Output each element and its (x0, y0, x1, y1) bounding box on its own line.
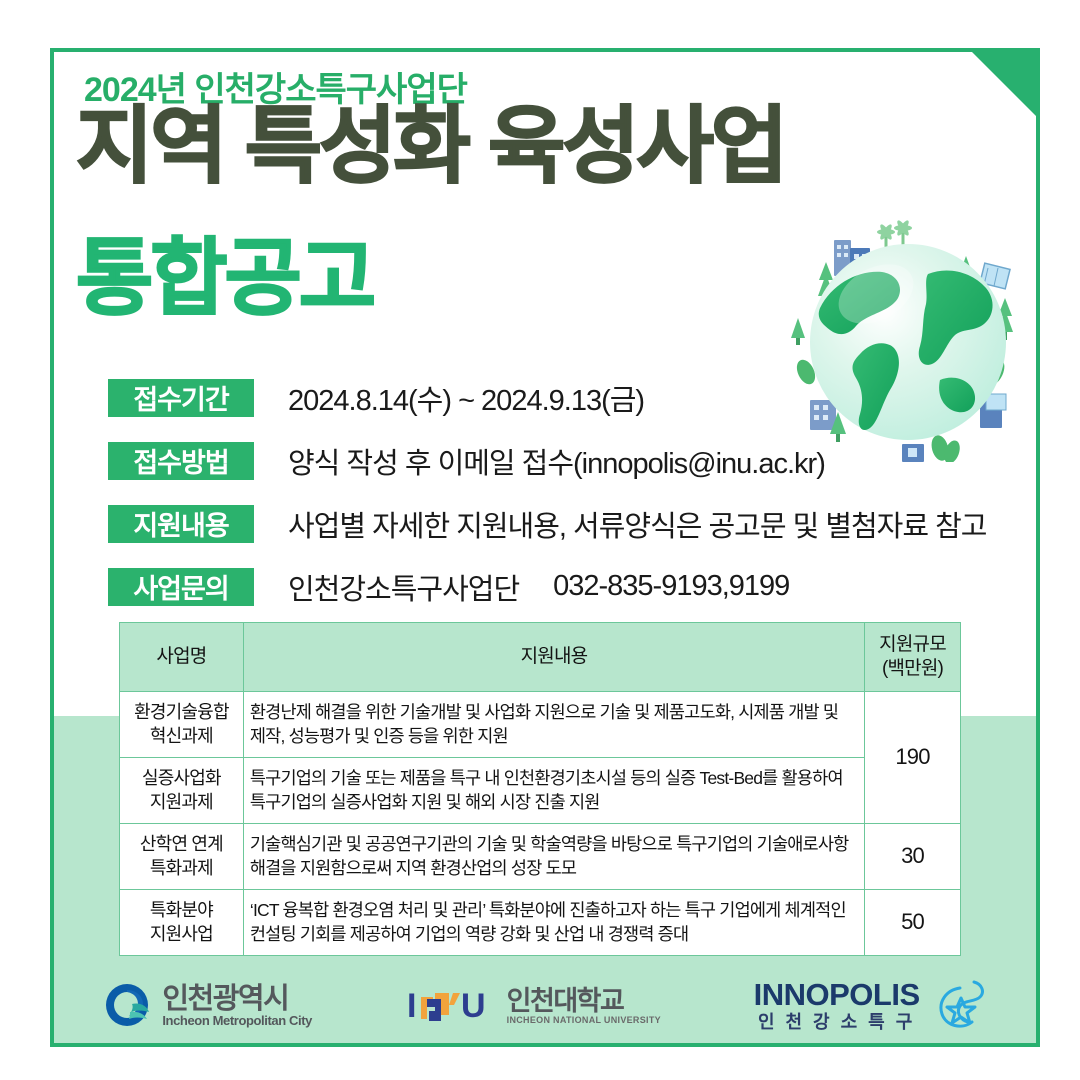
th-scale-line1: 지원규모 (879, 634, 946, 655)
svg-text:U: U (461, 987, 486, 1025)
program-name-line2: 지원사업 (150, 924, 213, 944)
incheon-city-emblem-icon (102, 980, 152, 1035)
corner-triangle-decoration (970, 50, 1038, 118)
cell-support-scale: 190 (865, 691, 961, 823)
logo-incheon-national-university: I U 인천대학교 INCHEON NATIONAL UNIVERSITY (405, 981, 661, 1034)
cell-support-desc: 환경난제 해결을 위한 기술개발 및 사업화 지원으로 기술 및 제품고도화, … (243, 691, 864, 757)
value-application-period: 2024.8.14(수) ~ 2024.9.13(금) (288, 377, 644, 419)
program-name-line1: 실증사업화 (142, 768, 221, 788)
cell-support-scale: 50 (865, 889, 961, 955)
info-rows: 접수기간 2024.8.14(수) ~ 2024.9.13(금) 접수방법 양식… (108, 366, 1008, 618)
badge-contact: 사업문의 (108, 568, 254, 606)
value-support-content: 사업별 자세한 지원내용, 서류양식은 공고문 및 별첨자료 참고 (288, 503, 986, 545)
cell-program-name: 환경기술융합 혁신과제 (120, 691, 244, 757)
program-name-line2: 혁신과제 (150, 726, 213, 746)
svg-text:I: I (407, 987, 416, 1025)
inu-wordmark: 인천대학교 INCHEON NATIONAL UNIVERSITY (507, 988, 661, 1026)
logo-incheon-metropolitan-city: 인천광역시 Incheon Metropolitan City (102, 980, 312, 1035)
table-row: 환경기술융합 혁신과제 환경난제 해결을 위한 기술개발 및 사업화 지원으로 … (120, 691, 961, 757)
cell-program-name: 산학연 연계 특화과제 (120, 823, 244, 889)
program-name-line1: 환경기술융합 (134, 702, 229, 722)
program-name-line2: 지원과제 (150, 792, 213, 812)
program-name-line2: 특화과제 (150, 858, 213, 878)
program-table: 사업명 지원내용 지원규모 (백만원) 환경기술융합 혁신과제 환경난제 해결을… (119, 622, 961, 956)
table-header-row: 사업명 지원내용 지원규모 (백만원) (120, 623, 961, 692)
badge-application-period: 접수기간 (108, 379, 254, 417)
cell-program-name: 실증사업화 지원과제 (120, 757, 244, 823)
innopolis-wordmark: INNOPOLIS 인 천 강 소 특 구 (754, 979, 920, 1035)
incheon-city-name-ko: 인천광역시 (162, 985, 312, 1014)
info-row-method: 접수방법 양식 작성 후 이메일 접수(innopolis@inu.ac.kr) (108, 429, 1008, 492)
poster-root: 2024년 인천강소특구사업단 지역 특성화 육성사업 통합공고 (0, 0, 1080, 1080)
inu-name-ko: 인천대학교 (507, 988, 661, 1015)
program-name-line1: 특화분야 (150, 900, 213, 920)
th-program-name: 사업명 (120, 623, 244, 692)
table-row: 산학연 연계 특화과제 기술핵심기관 및 공공연구기관의 기술 및 학술역량을 … (120, 823, 961, 889)
table-row: 실증사업화 지원과제 특구기업의 기술 또는 제품을 특구 내 인천환경기초시설… (120, 757, 961, 823)
logo-innopolis: INNOPOLIS 인 천 강 소 특 구 (754, 976, 988, 1039)
cell-support-desc: ‘ICT 융복합 환경오염 처리 및 관리’ 특화분야에 진출하고자 하는 특구… (243, 889, 864, 955)
poster-title-sub: 통합공고 (76, 236, 373, 320)
innopolis-star-icon (930, 976, 988, 1039)
cell-program-name: 특화분야 지원사업 (120, 889, 244, 955)
info-row-support: 지원내용 사업별 자세한 지원내용, 서류양식은 공고문 및 별첨자료 참고 (108, 492, 1008, 555)
inu-name-en: INCHEON NATIONAL UNIVERSITY (507, 1015, 661, 1026)
cell-support-desc: 특구기업의 기술 또는 제품을 특구 내 인천환경기초시설 등의 실증 Test… (243, 757, 864, 823)
incheon-city-name-en: Incheon Metropolitan City (162, 1014, 312, 1028)
info-row-period: 접수기간 2024.8.14(수) ~ 2024.9.13(금) (108, 366, 1008, 429)
incheon-city-wordmark: 인천광역시 Incheon Metropolitan City (162, 985, 312, 1028)
cell-support-desc: 기술핵심기관 및 공공연구기관의 기술 및 학술역량을 바탕으로 특구기업의 기… (243, 823, 864, 889)
info-row-contact: 사업문의 인천강소특구사업단 032-835-9193,9199 (108, 555, 1008, 618)
value-contact-org: 인천강소특구사업단 (288, 566, 519, 608)
poster-title-main: 지역 특성화 육성사업 (76, 104, 785, 188)
footer-logos: 인천광역시 Incheon Metropolitan City I U 인천대학… (56, 968, 1034, 1046)
value-contact-phone: 032-835-9193,9199 (553, 570, 789, 603)
value-application-method: 양식 작성 후 이메일 접수(innopolis@inu.ac.kr) (288, 440, 825, 482)
th-support-content: 지원내용 (243, 623, 864, 692)
th-scale-line2: (백만원) (882, 658, 943, 679)
program-name-line1: 산학연 연계 (140, 834, 223, 854)
cell-support-scale: 30 (865, 823, 961, 889)
innopolis-name-ko: 인 천 강 소 특 구 (754, 1010, 920, 1035)
innopolis-name-en: INNOPOLIS (754, 979, 920, 1010)
th-support-scale: 지원규모 (백만원) (865, 623, 961, 692)
table-row: 특화분야 지원사업 ‘ICT 융복합 환경오염 처리 및 관리’ 특화분야에 진… (120, 889, 961, 955)
badge-application-method: 접수방법 (108, 442, 254, 480)
inu-mark-icon: I U (405, 981, 497, 1034)
badge-support-content: 지원내용 (108, 505, 254, 543)
